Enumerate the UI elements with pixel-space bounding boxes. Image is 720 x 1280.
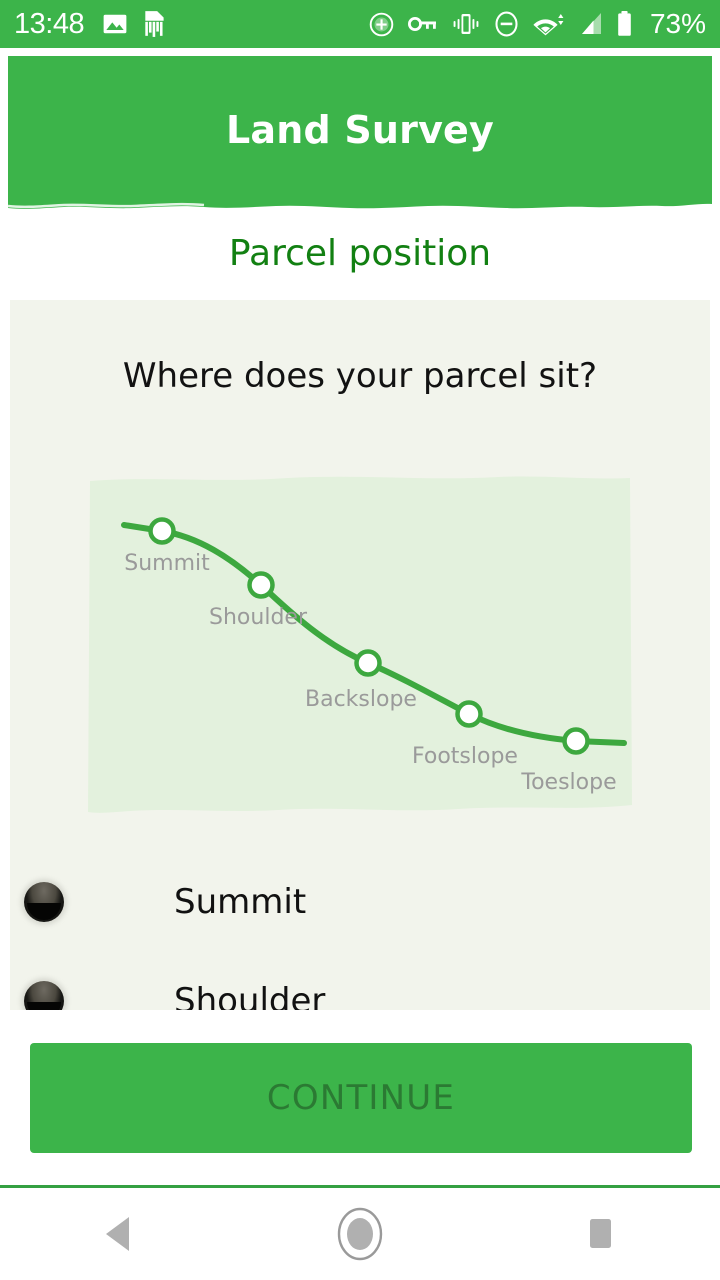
wifi-icon xyxy=(532,11,566,37)
answer-options-list: Summit Shoulder xyxy=(10,852,710,1010)
phone-screen: 13:48 xyxy=(0,0,720,1280)
status-bar-notification-icons xyxy=(102,10,168,38)
home-button[interactable] xyxy=(240,1204,480,1264)
add-circle-icon xyxy=(368,11,395,38)
status-bar-system-icons: 73% xyxy=(368,10,706,38)
android-nav-bar xyxy=(0,1188,720,1280)
question-prompt: Where does your parcel sit? xyxy=(10,356,710,396)
do-not-disturb-icon xyxy=(494,10,519,38)
slope-label-shoulder: Shoulder xyxy=(209,605,308,630)
option-row-shoulder[interactable]: Shoulder xyxy=(10,951,710,1010)
app-title: Land Survey xyxy=(8,56,712,204)
home-circle-icon xyxy=(334,1204,386,1264)
back-button[interactable] xyxy=(0,1212,240,1256)
slope-label-backslope: Backslope xyxy=(305,687,417,712)
vpn-key-icon xyxy=(408,14,438,34)
question-card: Where does your parcel sit? xyxy=(10,300,710,1010)
slope-label-footslope: Footslope xyxy=(412,744,518,769)
vibrate-icon xyxy=(451,11,481,37)
hillslope-position-diagram: Summit Shoulder Backslope Footslope Toes… xyxy=(78,475,642,819)
slope-node-footslope[interactable] xyxy=(458,703,481,726)
option-row-summit[interactable]: Summit xyxy=(10,852,710,951)
radio-button-shoulder-icon[interactable] xyxy=(24,981,64,1011)
option-label-shoulder: Shoulder xyxy=(174,981,325,1011)
image-icon xyxy=(102,11,128,37)
slope-node-toeslope[interactable] xyxy=(565,730,588,753)
slope-node-shoulder[interactable] xyxy=(250,574,273,597)
page-title: Parcel position xyxy=(0,233,720,274)
cell-signal-icon xyxy=(579,11,603,37)
app-bar: Land Survey xyxy=(8,56,712,216)
slope-label-toeslope: Toeslope xyxy=(520,770,616,795)
status-clock: 13:48 xyxy=(14,10,84,39)
recents-square-icon xyxy=(582,1212,618,1256)
recents-button[interactable] xyxy=(480,1212,720,1256)
battery-percent-label: 73% xyxy=(650,10,706,38)
slope-node-summit[interactable] xyxy=(151,520,174,543)
option-label-summit: Summit xyxy=(174,882,306,922)
slope-label-summit: Summit xyxy=(124,551,210,576)
shredded-document-icon xyxy=(142,10,168,38)
status-bar: 13:48 xyxy=(0,0,720,48)
back-triangle-icon xyxy=(100,1212,140,1256)
continue-button[interactable]: CONTINUE xyxy=(30,1043,692,1153)
battery-icon xyxy=(616,10,633,38)
radio-button-summit-icon[interactable] xyxy=(24,882,64,922)
slope-node-backslope[interactable] xyxy=(357,652,380,675)
